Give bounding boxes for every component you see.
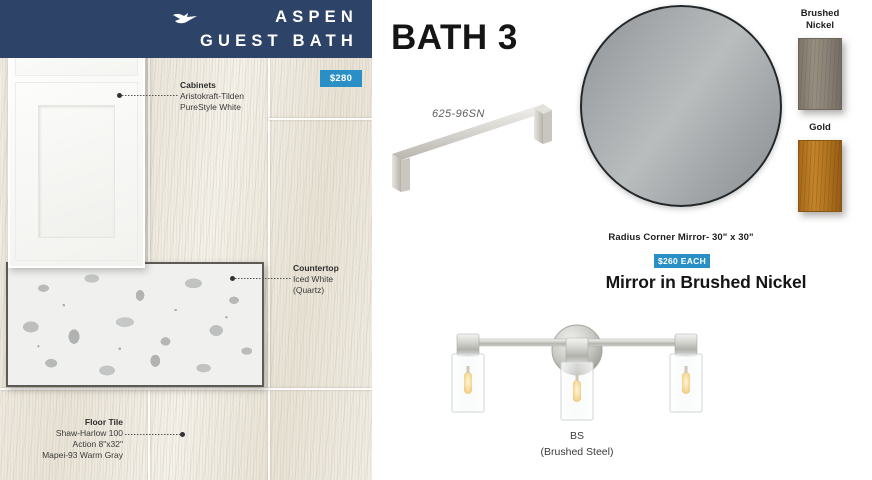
floor-callout-line-2: Action 8"x32" xyxy=(18,439,123,450)
banner-line-1: ASPEN xyxy=(200,5,358,29)
cabinet-callout: Cabinets Aristokraft-Tilden PureStyle Wh… xyxy=(180,80,244,113)
countertop-callout: Countertop Iced White (Quartz) xyxy=(293,263,339,296)
swatch-brushed-nickel xyxy=(798,38,842,110)
floor-tile-callout: Floor Tile Shaw-Harlow 100 Action 8"x32"… xyxy=(18,417,123,461)
board-header-banner: ASPEN GUEST BATH xyxy=(0,0,372,58)
cabinet-door-sample xyxy=(8,22,145,268)
tile-grout-line xyxy=(148,0,150,480)
cabinet-callout-title: Cabinets xyxy=(180,80,244,91)
cabinet-callout-line-1: Aristokraft-Tilden xyxy=(180,91,244,102)
light-caption-line-2: (Brushed Steel) xyxy=(467,444,687,460)
light-caption-line-1: BS xyxy=(467,428,687,444)
countertop-quartz-sample xyxy=(6,262,264,387)
bird-logo-icon xyxy=(172,10,198,28)
vanity-light-caption: BS (Brushed Steel) xyxy=(467,428,687,460)
cabinet-callout-line-2: PureStyle White xyxy=(180,102,244,113)
cabinet-leader-dot xyxy=(117,93,122,98)
round-mirror-image xyxy=(580,5,782,207)
banner-line-2: GUEST BATH xyxy=(200,29,358,53)
materials-photo-panel: ASPEN GUEST BATH $280 Cabinets Aristokra… xyxy=(0,0,372,480)
swatch-gold-line-1: Gold xyxy=(781,122,859,134)
swatch-nickel-line-1: Brushed xyxy=(781,8,859,20)
cabinet-pull-model-label: 625-96SN xyxy=(432,108,485,120)
floor-callout-title: Floor Tile xyxy=(18,417,123,428)
design-board: ASPEN GUEST BATH $280 Cabinets Aristokra… xyxy=(0,0,872,480)
countertop-leader-dot xyxy=(230,276,235,281)
mirror-price-badge: $260 EACH xyxy=(654,254,710,268)
countertop-callout-line-1: Iced White xyxy=(293,274,339,285)
swatch-label-gold: Gold xyxy=(781,122,859,134)
cabinet-price-badge: $280 xyxy=(320,70,362,87)
countertop-leader-line xyxy=(235,278,291,279)
cabinet-door-inset-panel xyxy=(38,105,115,238)
swatch-gold xyxy=(798,140,842,212)
tile-grout-line xyxy=(268,0,270,480)
page-title: BATH 3 xyxy=(391,18,518,58)
floor-leader-line xyxy=(125,434,180,435)
vanity-light-image xyxy=(427,312,727,424)
tile-grout-line xyxy=(0,388,372,390)
cabinet-leader-line xyxy=(122,95,178,96)
fixtures-panel: BATH 3 625-96SN xyxy=(372,0,872,480)
countertop-callout-title: Countertop xyxy=(293,263,339,274)
floor-callout-line-3: Mapei-93 Warm Gray xyxy=(18,450,123,461)
tile-grout-line xyxy=(268,118,372,120)
swatch-nickel-line-2: Nickel xyxy=(781,20,859,32)
floor-callout-line-1: Shaw-Harlow 100 xyxy=(18,428,123,439)
countertop-callout-line-2: (Quartz) xyxy=(293,285,339,296)
mirror-finish-label: Mirror in Brushed Nickel xyxy=(576,272,836,293)
mirror-caption: Radius Corner Mirror- 30" x 30" xyxy=(580,232,782,243)
floor-leader-dot xyxy=(180,432,185,437)
cabinet-door-frame xyxy=(15,82,138,261)
banner-title: ASPEN GUEST BATH xyxy=(200,5,358,53)
swatch-label-brushed-nickel: Brushed Nickel xyxy=(781,8,859,32)
